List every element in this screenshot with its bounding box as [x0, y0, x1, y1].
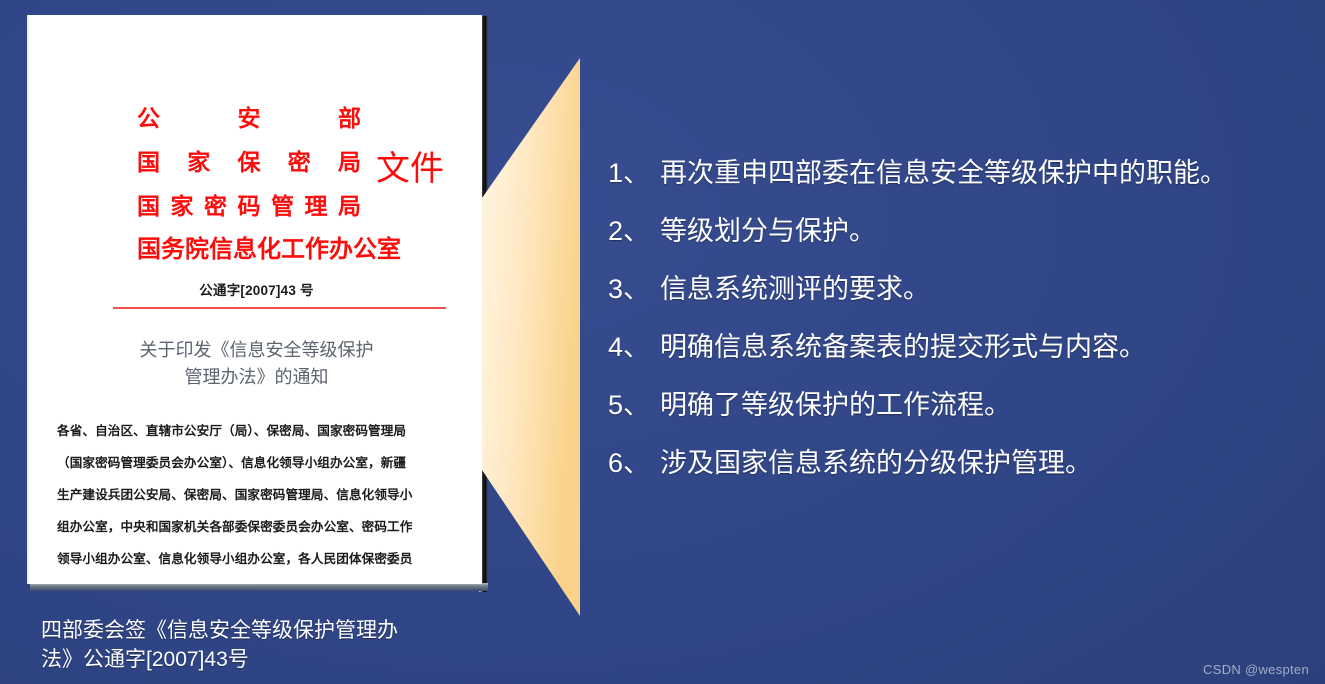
list-item: 4、 明确信息系统备案表的提交形式与内容。 [608, 332, 1320, 362]
list-item: 1、 再次重申四部委在信息安全等级保护中的职能。 [608, 158, 1320, 188]
list-item-number: 1、 [608, 158, 660, 188]
document-header-row-1: 公 安 部 [29, 103, 482, 147]
document-stamp-label: 文件 [376, 151, 444, 189]
caption-line-2: 法》公通字[2007]43号 [41, 645, 471, 674]
header-char: 码 [238, 191, 261, 221]
document-header-row-3: 国 家 密 码 管 理 局 [29, 191, 482, 235]
list-item-number: 2、 [608, 216, 660, 246]
header-char: 局 [338, 191, 361, 221]
left-pointing-chevron-arrow-icon [478, 58, 588, 616]
header-char: 家 [187, 147, 210, 177]
header-char: 部 [338, 103, 361, 133]
document-body-line: 领导小组办公室、信息化领导小组办公室，各人民团体保密委员 [57, 543, 457, 575]
header-row-4-text: 国务院信息化工作办公室 [137, 235, 361, 265]
header-char: 保 [238, 147, 261, 177]
header-char: 局 [338, 147, 361, 177]
header-char: 国 [137, 191, 160, 221]
list-item-number: 3、 [608, 274, 660, 304]
document-header-row-4: 国务院信息化工作办公室 [29, 235, 482, 279]
document-title-line-1: 关于印发《信息安全等级保护 [140, 340, 374, 360]
header-char: 国 [137, 147, 160, 177]
csdn-watermark: CSDN @wespten [1203, 662, 1309, 677]
list-item-number: 5、 [608, 390, 660, 420]
document-red-rule [113, 307, 446, 309]
list-item-text: 明确信息系统备案表的提交形式与内容。 [660, 332, 1320, 362]
document-body-line: 组办公室，中央和国家机关各部委保密委员会办公室、密码工作 [57, 511, 457, 543]
caption-line-1: 四部委会签《信息安全等级保护管理办 [41, 616, 471, 645]
list-item: 6、 涉及国家信息系统的分级保护管理。 [608, 448, 1320, 478]
list-item-text: 涉及国家信息系统的分级保护管理。 [660, 448, 1320, 478]
document-body-line: （国家密码管理委员会办公室）、信息化领导小组办公室，新疆 [57, 447, 457, 479]
list-item-text: 信息系统测评的要求。 [660, 274, 1320, 304]
document-caption: 四部委会签《信息安全等级保护管理办 法》公通字[2007]43号 [41, 616, 471, 674]
document-bottom-shadow [30, 583, 488, 591]
document-title: 关于印发《信息安全等级保护 管理办法》的通知 [29, 337, 482, 391]
list-item-text: 再次重申四部委在信息安全等级保护中的职能。 [660, 158, 1320, 188]
document-number: 公通字[2007]43 号 [29, 279, 482, 299]
header-char: 安 [238, 103, 261, 133]
bullet-list: 1、 再次重申四部委在信息安全等级保护中的职能。 2、 等级划分与保护。 3、 … [608, 158, 1320, 506]
list-item: 5、 明确了等级保护的工作流程。 [608, 390, 1320, 420]
header-char: 密 [204, 191, 227, 221]
header-char: 管 [271, 191, 294, 221]
document-header-block: 公 安 部 国 家 保 密 局 国 家 密 码 [29, 103, 482, 279]
header-char: 密 [288, 147, 311, 177]
list-item-text: 明确了等级保护的工作流程。 [660, 390, 1320, 420]
list-item: 2、 等级划分与保护。 [608, 216, 1320, 246]
document-body-text: 各省、自治区、直辖市公安厅（局）、保密局、国家密码管理局 （国家密码管理委员会办… [57, 415, 457, 575]
government-document-image: 公 安 部 国 家 保 密 局 国 家 密 码 [27, 15, 482, 584]
header-char: 家 [171, 191, 194, 221]
list-item-number: 4、 [608, 332, 660, 362]
header-char: 理 [305, 191, 328, 221]
document-body-line: 生产建设兵团公安局、保密局、国家密码管理局、信息化领导小 [57, 479, 457, 511]
list-item: 3、 信息系统测评的要求。 [608, 274, 1320, 304]
document-title-line-2: 管理办法》的通知 [29, 364, 482, 391]
presentation-slide: 公 安 部 国 家 保 密 局 国 家 密 码 [0, 0, 1325, 684]
list-item-text: 等级划分与保护。 [660, 216, 1320, 246]
document-body-line: 各省、自治区、直辖市公安厅（局）、保密局、国家密码管理局 [57, 415, 457, 447]
header-char: 公 [137, 103, 160, 133]
list-item-number: 6、 [608, 448, 660, 478]
